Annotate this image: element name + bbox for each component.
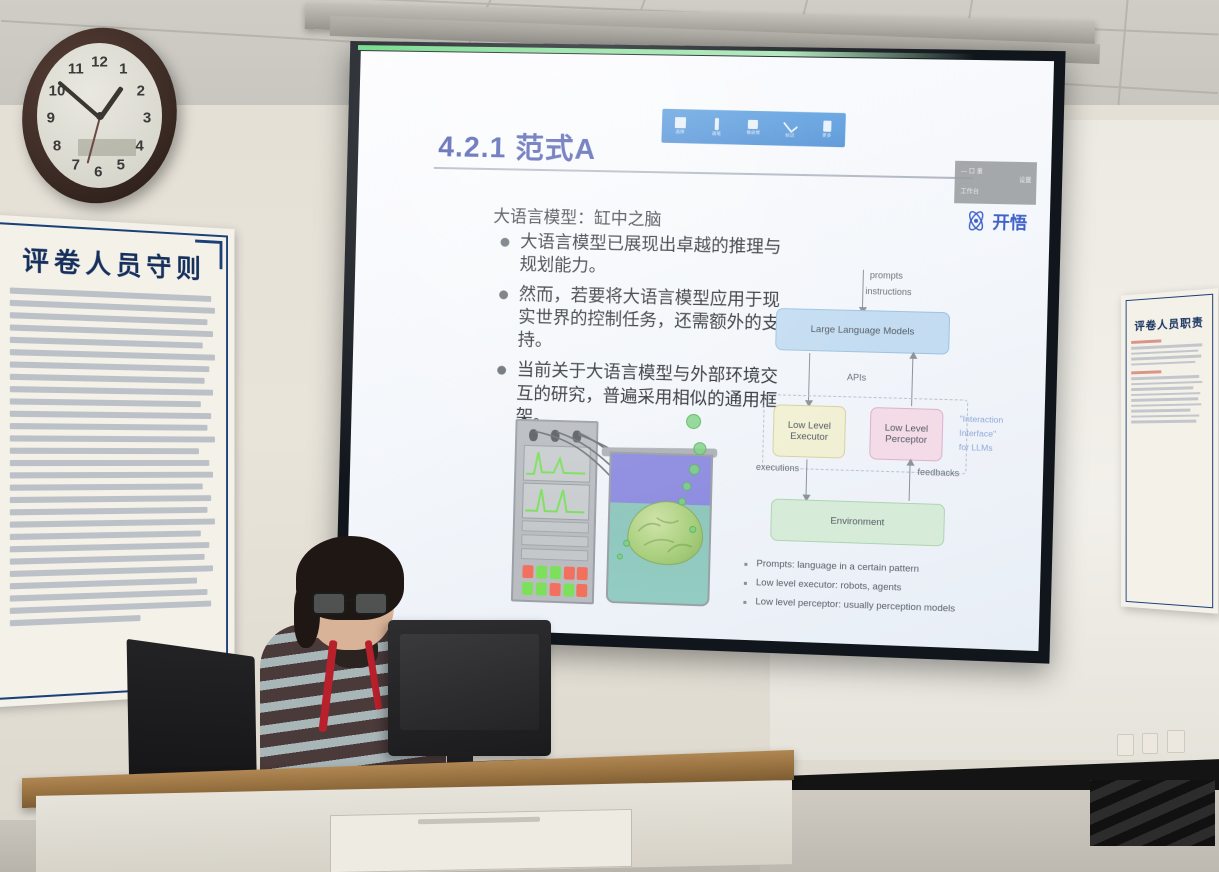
logo-plate: — 口 重 设置 工作台 xyxy=(954,161,1037,205)
clock-face: 12 1 2 3 4 5 6 7 8 9 10 11 xyxy=(37,43,162,188)
computer-monitor[interactable] xyxy=(388,620,551,756)
bullet-item: 然而，若要将大语言模型应用于现实世界的控制任务，还需额外的支持。 xyxy=(496,282,796,359)
toolbar-item-pen[interactable]: 画笔 xyxy=(701,117,732,137)
sub-bullet-item: Low level perceptor: usually perception … xyxy=(741,596,955,615)
wall-clock: 12 1 2 3 4 5 6 7 8 9 10 11 xyxy=(22,28,177,203)
slide-title: 4.2.1 范式A xyxy=(438,123,597,168)
poster-left-body xyxy=(10,287,217,626)
pen-icon xyxy=(715,117,719,129)
label-apis: APIs xyxy=(847,372,866,383)
toolbar-item-highlighter[interactable]: 标记 xyxy=(775,118,806,139)
label-interface-2: Interface" xyxy=(959,428,996,440)
brain-in-vat-illustration xyxy=(511,411,719,612)
arrow-llm-to-executor xyxy=(808,353,811,401)
label-executions: executions xyxy=(756,462,799,473)
arrow-executor-to-environment xyxy=(806,459,808,495)
arrow-input-to-llm xyxy=(862,270,864,308)
label-instructions: instructions xyxy=(865,286,911,297)
toolbar-item-eraser[interactable]: 橡皮擦 xyxy=(738,120,769,137)
wall-outlet[interactable] xyxy=(1142,733,1158,754)
select-icon xyxy=(675,117,686,128)
toolbar-item-more[interactable]: 更多 xyxy=(811,120,842,139)
label-interface-1: "Interaction xyxy=(959,414,1003,426)
sub-bullet-list: Prompts: language in a certain pattern L… xyxy=(741,558,956,623)
led-grid xyxy=(518,421,597,423)
highlighter-icon xyxy=(783,117,798,133)
more-icon xyxy=(823,121,831,132)
poster-right-title: 评卷人员职责 xyxy=(1131,314,1207,335)
brand-logo: 开悟 xyxy=(964,207,1028,234)
node-low-level-perceptor: Low Level Perceptor xyxy=(869,407,943,462)
framework-diagram: prompts instructions Large Language Mode… xyxy=(759,266,1014,515)
logo-text: 开悟 xyxy=(992,208,1027,234)
section-heading: 大语言模型：缸中之脑 xyxy=(493,202,662,230)
atom-icon xyxy=(964,208,989,233)
node-low-level-executor: Low Level Executor xyxy=(772,404,846,458)
waveform-display xyxy=(522,483,590,521)
label-feedbacks: feedbacks xyxy=(917,467,959,478)
bullet-item: 大语言模型已展现出卓越的推理与规划能力。 xyxy=(498,230,797,283)
equipment-rack xyxy=(1090,780,1215,846)
title-underline xyxy=(434,167,973,179)
bubble xyxy=(617,553,623,559)
bubble xyxy=(686,414,701,429)
monitor-rack xyxy=(511,419,599,605)
node-large-language-models: Large Language Models xyxy=(775,308,950,355)
label-prompts: prompts xyxy=(870,270,903,281)
eyeglasses-right xyxy=(354,592,388,615)
waveform-display xyxy=(523,445,591,483)
annotation-toolbar[interactable]: 选择 画笔 橡皮擦 标记 更多 xyxy=(661,109,846,148)
poster-right: 评卷人员职责 xyxy=(1121,288,1218,614)
classroom-scene: 12 1 2 3 4 5 6 7 8 9 10 11 评卷人员守则 xyxy=(0,0,1219,872)
arrow-environment-to-perceptor xyxy=(909,465,911,501)
slide: 选择 画笔 橡皮擦 标记 更多 xyxy=(346,51,1054,651)
sub-bullet-item: Low level executor: robots, agents xyxy=(742,577,956,596)
brain xyxy=(627,500,704,566)
toolbar-item-select[interactable]: 选择 xyxy=(665,117,695,136)
poster-left: 评卷人员守则 xyxy=(0,214,234,707)
eyeglasses-left xyxy=(312,592,346,615)
wall-outlet[interactable] xyxy=(1117,734,1134,756)
sub-bullet-item: Prompts: language in a certain pattern xyxy=(742,558,956,576)
eraser-icon xyxy=(748,120,758,129)
node-environment: Environment xyxy=(770,499,945,547)
label-interface-3: for LLMs xyxy=(959,442,993,454)
poster-left-title: 评卷人员守则 xyxy=(10,239,217,286)
wall-switch[interactable] xyxy=(1167,730,1185,753)
